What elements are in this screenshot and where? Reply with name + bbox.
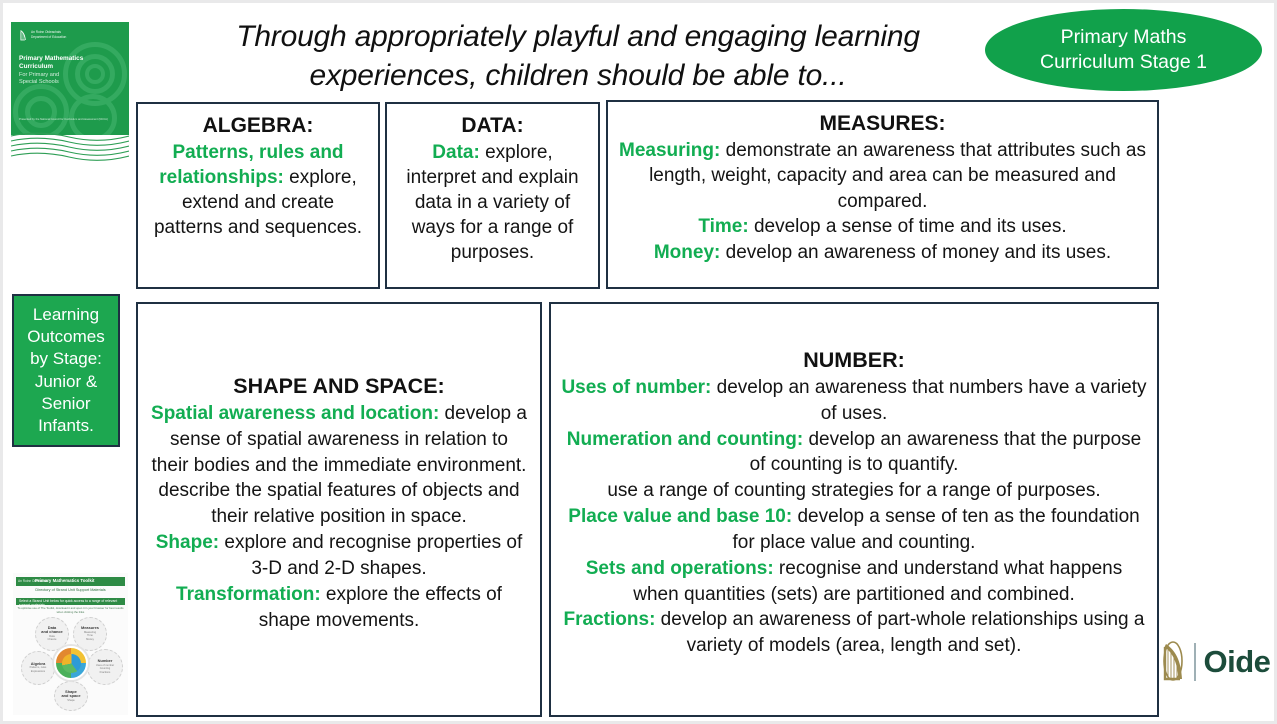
slide-headline: Through appropriately playful and engagi… bbox=[193, 17, 963, 95]
headline-line-2: experiences, children should be able to.… bbox=[193, 56, 963, 95]
strand-box-data: DATA: Data: explore, interpret and expla… bbox=[385, 102, 600, 289]
number-text-0: develop an awareness that numbers have a… bbox=[711, 377, 1146, 424]
book-cover-footer: Presented by the National Council for Cu… bbox=[19, 118, 108, 121]
book-cover-waves bbox=[11, 132, 129, 164]
toolkit-header-title: Primary Mathematics Toolkit bbox=[35, 578, 94, 583]
toolkit-subtitle: Directory of Strand Unit Support Materia… bbox=[16, 588, 125, 592]
strand-box-measures: MEASURES: Measuring: demonstrate an awar… bbox=[606, 100, 1159, 289]
measures-heading-1: Time: bbox=[698, 216, 748, 237]
measures-text-2: develop an awareness of money and its us… bbox=[720, 242, 1111, 263]
measures-body: Measuring: demonstrate an awareness that… bbox=[618, 138, 1147, 265]
learning-outcomes-stage-label: Learning Outcomes by Stage: Junior & Sen… bbox=[12, 294, 120, 447]
number-heading-5: Fractions: bbox=[564, 609, 656, 630]
number-text-1: develop an awareness that the purpose of… bbox=[750, 429, 1142, 476]
shape-title: SHAPE AND SPACE: bbox=[150, 374, 528, 399]
data-body: Data: explore, interpret and explain dat… bbox=[395, 140, 590, 265]
number-heading-3: Place value and base 10: bbox=[568, 506, 792, 527]
measures-text-1: develop a sense of time and its uses. bbox=[749, 216, 1067, 237]
shape-heading-3: Transformation: bbox=[176, 584, 321, 605]
oide-logo: Oide bbox=[1160, 641, 1270, 683]
toolkit-node-number: NumberUses of numberCountingFractions bbox=[87, 649, 123, 685]
measures-heading-0: Measuring: bbox=[619, 140, 720, 161]
stage-badge-line-1: Primary Maths bbox=[1061, 25, 1187, 50]
book-cover-title: Primary MathematicsCurriculum bbox=[19, 55, 83, 71]
primary-maths-curriculum-book-cover: An Roinn Oideachais Department of Educat… bbox=[11, 22, 129, 164]
shape-text-1: describe the spatial features of objects… bbox=[158, 480, 519, 527]
number-heading-1: Numeration and counting: bbox=[567, 429, 803, 450]
number-body: Uses of number: develop an awareness tha… bbox=[561, 375, 1147, 659]
shape-text-2: explore and recognise properties of 3-D … bbox=[219, 532, 522, 579]
strand-box-number: NUMBER: Uses of number: develop an aware… bbox=[549, 302, 1159, 717]
stage-badge: Primary Maths Curriculum Stage 1 bbox=[985, 9, 1262, 91]
shape-body: Spatial awareness and location: develop … bbox=[150, 401, 528, 633]
toolkit-center-wheel-icon bbox=[54, 646, 88, 680]
number-heading-4: Sets and operations: bbox=[586, 558, 774, 579]
strand-box-shape-and-space: SHAPE AND SPACE: Spatial awareness and l… bbox=[136, 302, 542, 717]
number-heading-0: Uses of number: bbox=[561, 377, 711, 398]
measures-title: MEASURES: bbox=[618, 112, 1147, 136]
number-text-3: develop a sense of ten as the foundation… bbox=[733, 506, 1140, 553]
toolkit-node-shape-and-space: Shapeand spaceShape bbox=[54, 681, 88, 711]
toolkit-node-measures: MeasuresMeasuringTimeMoney bbox=[73, 617, 107, 651]
department-harp-icon bbox=[19, 29, 28, 42]
slide-canvas: An Roinn Oideachais Department of Educat… bbox=[0, 0, 1277, 724]
number-text-5: develop an awareness of part-whole relat… bbox=[655, 609, 1144, 656]
toolkit-node-algebra: AlgebraPatterns, rulesExpressions bbox=[21, 651, 55, 685]
book-cover-dept: An Roinn Oideachais Department of Educat… bbox=[31, 30, 66, 39]
data-title: DATA: bbox=[395, 114, 590, 138]
algebra-title: ALGEBRA: bbox=[147, 114, 369, 138]
data-heading: Data: bbox=[432, 142, 480, 163]
shape-heading-0: Spatial awareness and location: bbox=[151, 403, 439, 424]
number-title: NUMBER: bbox=[561, 348, 1147, 373]
harp-icon bbox=[1160, 641, 1186, 683]
logo-divider bbox=[1194, 643, 1196, 681]
algebra-body: Patterns, rules and relationships: explo… bbox=[147, 140, 369, 240]
toolkit-node-data-and-chance: Dataand chanceDataChance bbox=[35, 617, 69, 651]
strand-box-algebra: ALGEBRA: Patterns, rules and relationshi… bbox=[136, 102, 380, 289]
toolkit-center-inner bbox=[62, 654, 81, 673]
primary-maths-toolkit-thumbnail: An Roinn Oideachais Primary Mathematics … bbox=[13, 573, 128, 715]
measures-heading-2: Money: bbox=[654, 242, 721, 263]
learning-outcomes-stage-text: Learning Outcomes by Stage: Junior & Sen… bbox=[18, 304, 114, 437]
book-cover-subtitle: For Primary and Special Schools bbox=[19, 72, 59, 87]
book-cover-front: An Roinn Oideachais Department of Educat… bbox=[11, 22, 129, 135]
stage-badge-line-2: Curriculum Stage 1 bbox=[1040, 50, 1207, 75]
oide-wordmark: Oide bbox=[1204, 644, 1271, 680]
toolkit-note-secondary: To optimise use of The Toolkit, download… bbox=[16, 606, 125, 614]
measures-text-0: demonstrate an awareness that attributes… bbox=[649, 140, 1146, 212]
headline-line-1: Through appropriately playful and engagi… bbox=[193, 17, 963, 56]
shape-heading-2: Shape: bbox=[156, 532, 219, 553]
number-text-2: use a range of counting strategies for a… bbox=[607, 480, 1100, 501]
